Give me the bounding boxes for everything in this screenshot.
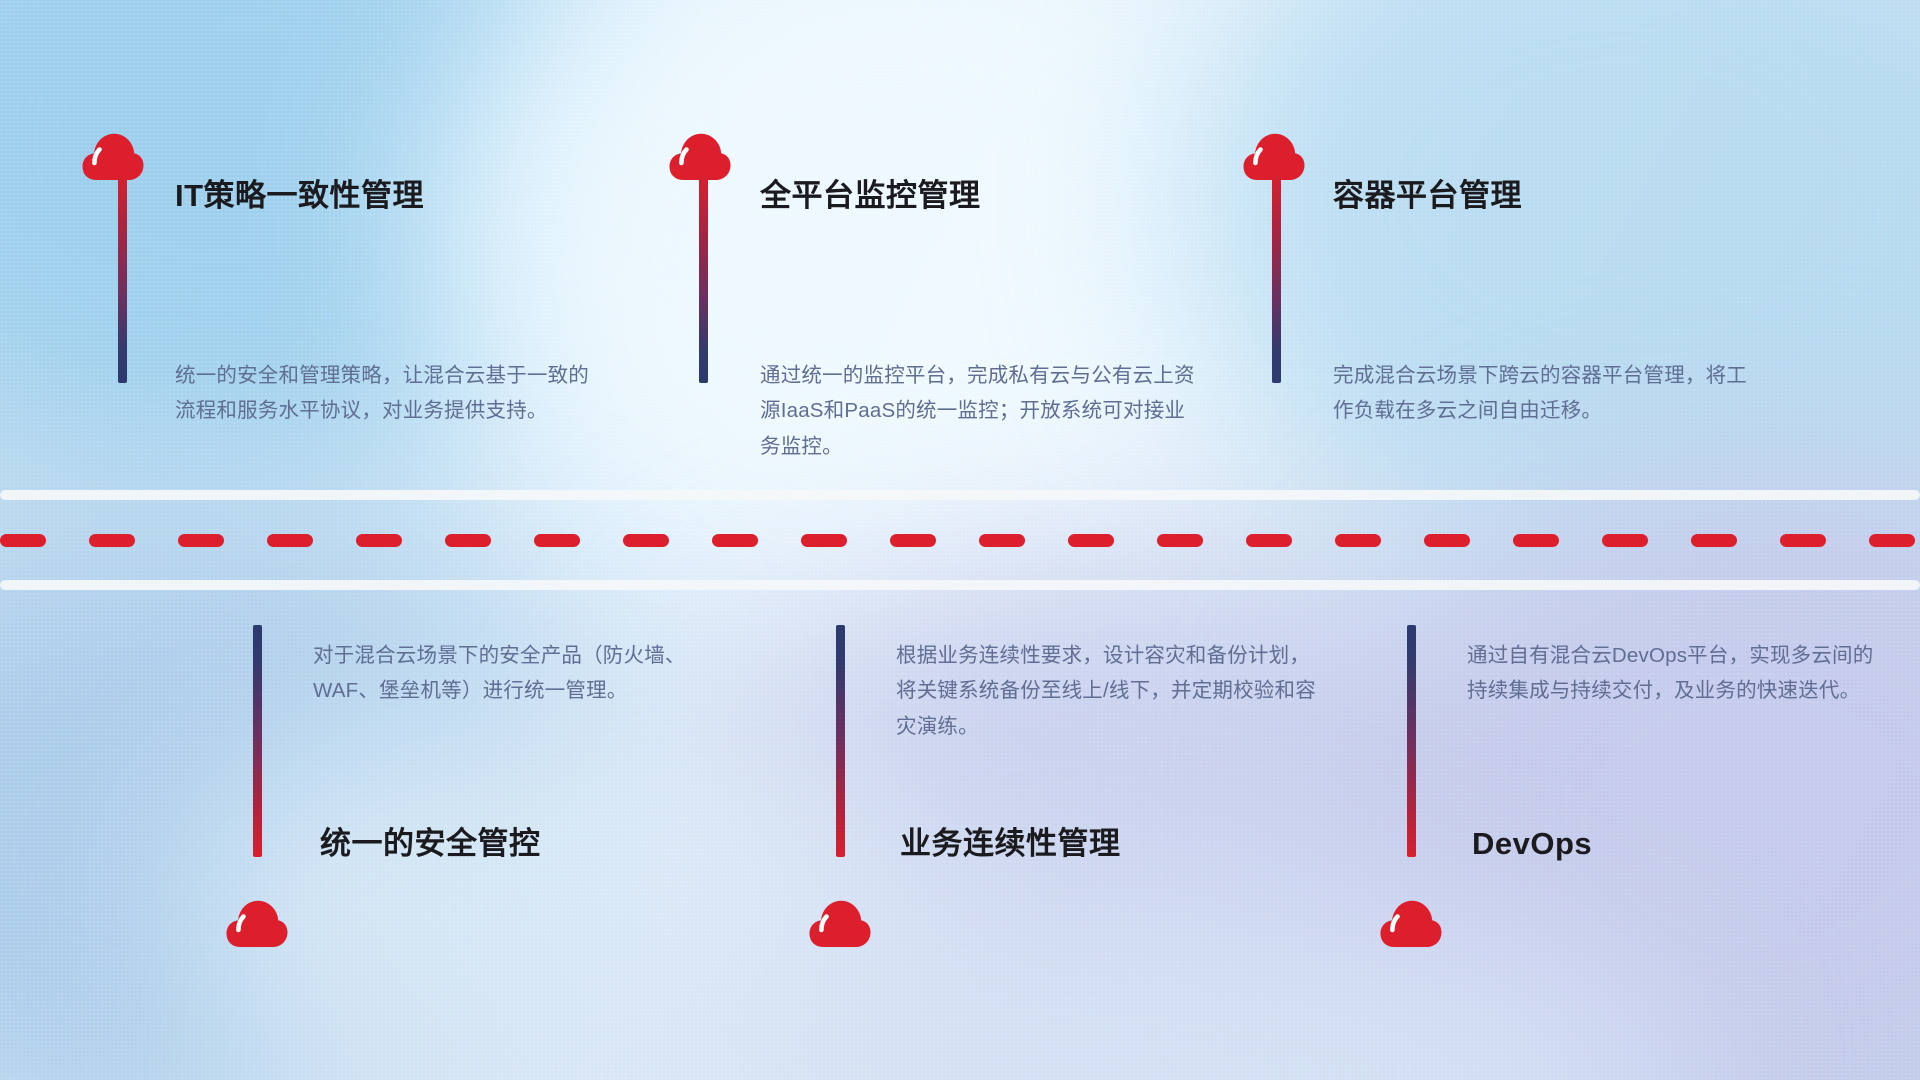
road-dash xyxy=(267,534,313,547)
road-dash xyxy=(534,534,580,547)
card-title: IT策略一致性管理 xyxy=(175,180,424,211)
card-description: 对于混合云场景下的安全产品（防火墙、WAF、堡垒机等）进行统一管理。 xyxy=(313,638,733,709)
card-description: 统一的安全和管理策略，让混合云基于一致的流程和服务水平协议，对业务提供支持。 xyxy=(175,358,607,429)
road-dash xyxy=(1157,534,1203,547)
infographic-stage: IT策略一致性管理 统一的安全和管理策略，让混合云基于一致的流程和服务水平协议，… xyxy=(0,0,1920,1080)
road-rail-bottom xyxy=(0,580,1920,590)
card-title: 全平台监控管理 xyxy=(760,180,981,211)
road-dash xyxy=(712,534,758,547)
card-description: 根据业务连续性要求，设计容灾和备份计划，将关键系统备份至线上/线下，并定期校验和… xyxy=(896,638,1316,744)
pin-bar xyxy=(1407,625,1416,857)
pin-bar xyxy=(1272,175,1281,383)
road-dash xyxy=(1424,534,1470,547)
road-dash xyxy=(1246,534,1292,547)
road-dash xyxy=(89,534,135,547)
road-dash xyxy=(1780,534,1826,547)
road-dash xyxy=(445,534,491,547)
road-dash xyxy=(1691,534,1737,547)
card-title: DevOps xyxy=(1472,828,1592,859)
pin-bar xyxy=(699,175,708,383)
cloud-icon xyxy=(226,900,288,948)
road-dashed-center-line xyxy=(0,534,1920,547)
cloud-icon xyxy=(82,133,144,181)
road-dash xyxy=(979,534,1025,547)
cloud-icon xyxy=(1243,133,1305,181)
card-title: 业务连续性管理 xyxy=(900,828,1121,859)
road-rail-top xyxy=(0,490,1920,500)
road-dash xyxy=(1068,534,1114,547)
cloud-icon xyxy=(1380,900,1442,948)
road-dash xyxy=(890,534,936,547)
pin-bar xyxy=(253,625,262,857)
road-divider xyxy=(0,490,1920,590)
road-dash xyxy=(1602,534,1648,547)
card-description: 通过统一的监控平台，完成私有云与公有云上资源IaaS和PaaS的统一监控；开放系… xyxy=(760,358,1198,464)
pin-bar xyxy=(836,625,845,857)
road-dash xyxy=(1335,534,1381,547)
card-title: 容器平台管理 xyxy=(1333,180,1522,211)
road-dash xyxy=(1513,534,1559,547)
cloud-icon xyxy=(809,900,871,948)
road-dash xyxy=(623,534,669,547)
pin-bar xyxy=(118,175,127,383)
road-dash xyxy=(178,534,224,547)
road-dash xyxy=(356,534,402,547)
road-dash xyxy=(0,534,46,547)
cloud-icon xyxy=(669,133,731,181)
card-description: 完成混合云场景下跨云的容器平台管理，将工作负载在多云之间自由迁移。 xyxy=(1333,358,1753,429)
card-title: 统一的安全管控 xyxy=(320,828,541,859)
road-dash xyxy=(801,534,847,547)
road-dash xyxy=(1869,534,1915,547)
card-description: 通过自有混合云DevOps平台，实现多云间的持续集成与持续交付，及业务的快速迭代… xyxy=(1467,638,1887,709)
